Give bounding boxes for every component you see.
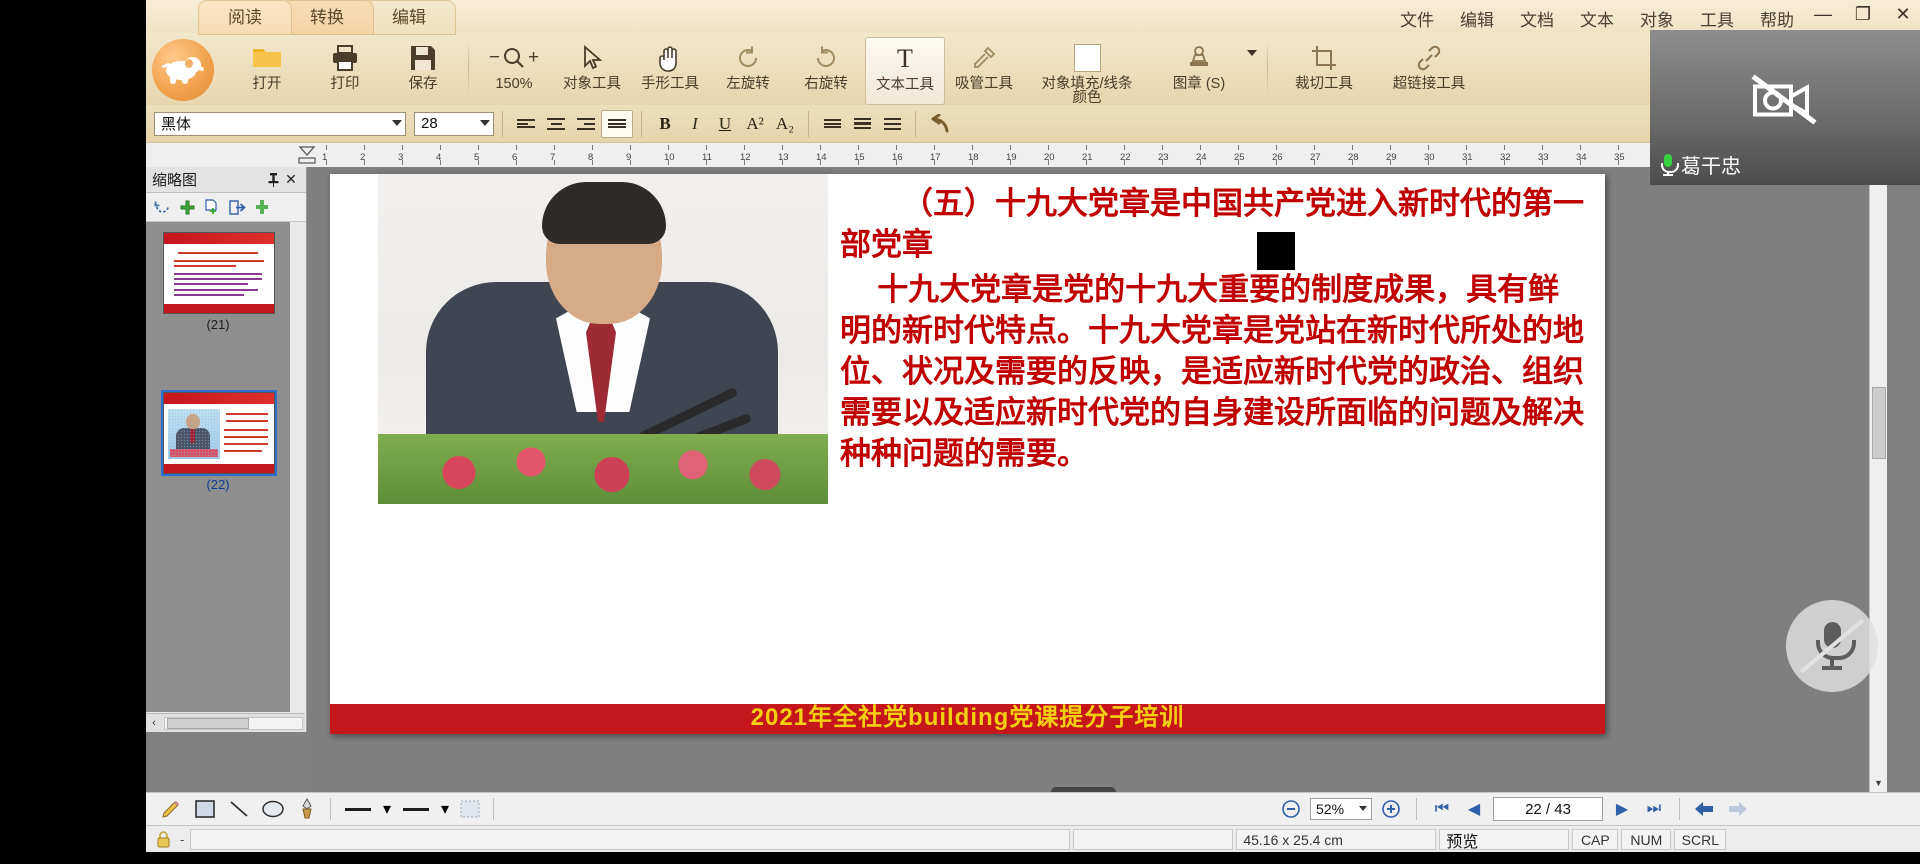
participant-name-badge: 葛干忠 bbox=[1660, 150, 1741, 179]
bold-button[interactable]: B bbox=[650, 111, 680, 137]
participant-name: 葛干忠 bbox=[1681, 150, 1741, 179]
navigation-controls: 52% ⏮ ◀ 22 / 43 ▶ ⏭ bbox=[1278, 797, 1750, 821]
stamp-dropdown-arrow[interactable] bbox=[1247, 37, 1261, 113]
thumbnail-page-21[interactable]: (21) bbox=[163, 232, 273, 332]
line-style-dropdown-2[interactable]: ▾ bbox=[437, 796, 453, 822]
align-left-button[interactable] bbox=[511, 111, 541, 137]
subscript-button[interactable]: A₂ bbox=[770, 111, 800, 137]
font-family-value: 黑体 bbox=[161, 113, 191, 134]
ruler-tick: 3 bbox=[402, 143, 440, 167]
insert-page-icon[interactable] bbox=[202, 197, 222, 217]
ruler-tick: 16 bbox=[896, 143, 934, 167]
tab-read[interactable]: 阅读 bbox=[198, 0, 292, 35]
minimize-button[interactable]: — bbox=[1812, 2, 1834, 26]
history-back-button[interactable] bbox=[1692, 797, 1718, 821]
ruler-tick: 30 bbox=[1428, 143, 1466, 167]
line-style-solid-button[interactable] bbox=[337, 796, 379, 822]
extract-icon[interactable] bbox=[252, 197, 272, 217]
eyedropper-tool-label: 吸管工具 bbox=[955, 77, 1013, 91]
pattern-fill-icon[interactable] bbox=[453, 796, 487, 822]
thumbnail-hscrollbar[interactable]: ‹ bbox=[146, 713, 305, 732]
eyedropper-icon bbox=[971, 41, 997, 75]
thumbnail-list[interactable]: (21) bbox=[146, 222, 290, 712]
prev-page-button[interactable]: ◀ bbox=[1461, 797, 1487, 821]
thumbnail-page-22[interactable]: (22) bbox=[163, 392, 273, 492]
font-family-combo[interactable]: 黑体 bbox=[154, 112, 406, 136]
ruler-tick: 11 bbox=[706, 143, 744, 167]
save-button[interactable]: 保存 bbox=[384, 37, 462, 105]
object-fill-line-color-label: 对象填充/线条 颜色 bbox=[1041, 77, 1132, 105]
menu-item-edit[interactable]: 编辑 bbox=[1458, 3, 1496, 34]
ruler-tick: 17 bbox=[934, 143, 972, 167]
open-label: 打开 bbox=[253, 77, 282, 91]
camera-off-icon bbox=[1749, 71, 1821, 132]
thumbnail-toolbar bbox=[146, 193, 306, 222]
status-field-1 bbox=[190, 829, 1070, 850]
line-style-dashed-button[interactable] bbox=[395, 796, 437, 822]
line-style-dropdown-1[interactable]: ▾ bbox=[379, 796, 395, 822]
close-icon[interactable]: ✕ bbox=[282, 171, 300, 189]
scroll-thumb[interactable] bbox=[167, 718, 249, 729]
document-paragraph[interactable]: 十九大党章是党的十九大重要的制度成果，具有鲜明的新时代特点。十九大党章是党站在新… bbox=[840, 270, 1590, 475]
rectangle-icon[interactable] bbox=[188, 796, 222, 822]
zoom-level-value: 52% bbox=[1316, 801, 1344, 817]
status-cap: CAP bbox=[1572, 829, 1618, 850]
ruler-tick: 6 bbox=[516, 143, 554, 167]
rotate-right-button[interactable]: 右旋转 bbox=[787, 37, 865, 105]
ruler-tick: 2 bbox=[364, 143, 402, 167]
zoom-level-combo[interactable]: 52% bbox=[1310, 798, 1372, 820]
menu-bar: 文件 编辑 文档 文本 对象 工具 帮助 — ❐ ✕ 阅读 转换 编辑 bbox=[146, 0, 1920, 33]
underline-button[interactable]: U bbox=[710, 111, 740, 137]
ruler-tick: 33 bbox=[1542, 143, 1580, 167]
zoom-in-button[interactable] bbox=[1378, 797, 1404, 821]
document-photo[interactable] bbox=[378, 174, 828, 504]
document-heading[interactable]: （五）十九大党章是中国共产党进入新时代的第一部党章 bbox=[840, 184, 1590, 266]
ruler-tick: 12 bbox=[744, 143, 782, 167]
page-footer-text: 2021年全社党building党课提分子培训 bbox=[330, 697, 1605, 732]
ribbon-separator bbox=[468, 39, 469, 97]
hyperlink-tool-label: 超链接工具 bbox=[1393, 77, 1466, 91]
pin-icon[interactable] bbox=[264, 171, 282, 189]
ruler-tick: 26 bbox=[1276, 143, 1314, 167]
printer-icon bbox=[330, 41, 360, 75]
status-dash: - bbox=[180, 832, 184, 847]
thumbnail-caption: (22) bbox=[163, 477, 273, 492]
ruler-tick: 15 bbox=[858, 143, 896, 167]
object-tool-label: 对象工具 bbox=[563, 77, 621, 91]
ruler-tick: 21 bbox=[1086, 143, 1124, 167]
eyedropper-tool-button[interactable]: 吸管工具 bbox=[945, 37, 1023, 105]
ruler-tick: 1 bbox=[326, 143, 364, 167]
thumbnail-panel: 缩略图 ✕ bbox=[146, 167, 307, 732]
scroll-left-button[interactable]: ‹ bbox=[146, 715, 162, 731]
status-num: NUM bbox=[1621, 829, 1671, 850]
format-separator-4 bbox=[915, 111, 916, 137]
ruler-tick: 18 bbox=[972, 143, 1010, 167]
align-right-button[interactable] bbox=[571, 111, 601, 137]
folder-icon bbox=[252, 41, 282, 75]
scroll-down-button[interactable]: ▼ bbox=[1871, 775, 1886, 790]
italic-button[interactable]: I bbox=[680, 111, 710, 137]
pen-icon[interactable] bbox=[290, 796, 324, 822]
pencil-icon[interactable] bbox=[154, 796, 188, 822]
mic-muted-icon[interactable] bbox=[1786, 600, 1878, 692]
ruler-tick: 32 bbox=[1504, 143, 1542, 167]
zoom-out-button[interactable] bbox=[1278, 797, 1304, 821]
thumbnail-page-21-preview bbox=[163, 232, 275, 314]
save-label: 保存 bbox=[409, 77, 438, 91]
cursor-arrow-icon bbox=[581, 41, 603, 75]
object-fill-line-color-button[interactable]: 对象填充/线条 颜色 bbox=[1023, 37, 1151, 105]
chevron-down-icon[interactable] bbox=[392, 120, 402, 126]
rotate-icon[interactable] bbox=[152, 197, 172, 217]
rotate-right-label: 右旋转 bbox=[804, 77, 848, 91]
thumbnail-caption: (21) bbox=[163, 317, 273, 332]
ruler-tick: 25 bbox=[1238, 143, 1276, 167]
hand-tool-label: 手形工具 bbox=[641, 77, 699, 91]
font-size-combo[interactable]: 28 bbox=[414, 112, 494, 136]
align-justify-button[interactable] bbox=[601, 110, 633, 138]
lock-icon[interactable] bbox=[150, 829, 176, 850]
document-canvas[interactable]: （五）十九大党章是中国共产党进入新时代的第一部党章 十九大党章是党的十九大重要的… bbox=[307, 167, 1887, 792]
canvas-vertical-scrollbar[interactable]: ▲ ▼ bbox=[1869, 167, 1887, 792]
window-controls: — ❐ ✕ bbox=[1812, 2, 1914, 26]
ruler-tick: 27 bbox=[1314, 143, 1352, 167]
chevron-down-icon-3[interactable] bbox=[1359, 806, 1367, 811]
undo-button[interactable] bbox=[924, 111, 954, 137]
ruler-tick: 9 bbox=[630, 143, 668, 167]
stamp-button[interactable]: 图章 (S) bbox=[1151, 37, 1247, 105]
rotate-left-label: 左旋转 bbox=[726, 77, 770, 91]
ruler-tick: 23 bbox=[1162, 143, 1200, 167]
rotate-right-icon bbox=[813, 41, 839, 75]
ruler-tick: 13 bbox=[782, 143, 820, 167]
line-icon[interactable] bbox=[222, 796, 256, 822]
menu-item-document[interactable]: 文档 bbox=[1518, 3, 1556, 34]
page-indicator[interactable]: 22 / 43 bbox=[1493, 797, 1603, 821]
hand-icon bbox=[657, 41, 683, 75]
black-redaction-box[interactable] bbox=[1257, 232, 1295, 270]
zoom-out-sign[interactable]: − bbox=[489, 47, 500, 69]
video-participant-tile[interactable]: 葛干忠 bbox=[1650, 30, 1920, 185]
first-page-button[interactable]: ⏮ bbox=[1429, 797, 1455, 821]
rotate-left-button[interactable]: 左旋转 bbox=[709, 37, 787, 105]
text-T-icon: T bbox=[897, 42, 913, 76]
export-icon[interactable] bbox=[227, 197, 247, 217]
ruler-tick: 5 bbox=[478, 143, 516, 167]
status-scrl: SCRL bbox=[1674, 829, 1726, 850]
rotate-left-icon bbox=[735, 41, 761, 75]
line-spacing-tight-button[interactable] bbox=[817, 111, 847, 137]
ruler-tick: 28 bbox=[1352, 143, 1390, 167]
status-dimensions: 45.16 x 25.4 cm bbox=[1236, 829, 1436, 850]
maximize-button[interactable]: ❐ bbox=[1852, 2, 1874, 26]
crop-icon bbox=[1311, 41, 1337, 75]
status-field-2 bbox=[1073, 829, 1233, 850]
nav-separator-1 bbox=[1416, 798, 1417, 820]
history-forward-button[interactable] bbox=[1724, 797, 1750, 821]
last-page-button[interactable]: ⏭ bbox=[1641, 797, 1667, 821]
line-spacing-wide-button[interactable] bbox=[877, 111, 907, 137]
font-size-value: 28 bbox=[421, 115, 438, 132]
thumbnail-panel-header: 缩略图 ✕ bbox=[146, 167, 306, 193]
crop-tool-label: 裁切工具 bbox=[1295, 77, 1353, 91]
status-mode[interactable]: 预览 bbox=[1439, 829, 1569, 850]
ruler-tick: 34 bbox=[1580, 143, 1618, 167]
workspace: 缩略图 ✕ bbox=[146, 167, 1920, 792]
superscript-button[interactable]: A² bbox=[740, 111, 770, 137]
open-button[interactable]: 打开 bbox=[228, 37, 306, 105]
draw-separator-1 bbox=[330, 798, 331, 820]
ribbon-separator-2 bbox=[1267, 39, 1268, 97]
vertical-scroll-thumb[interactable] bbox=[1872, 387, 1886, 459]
ruler-tick: 10 bbox=[668, 143, 706, 167]
chevron-down-icon-2[interactable] bbox=[480, 120, 490, 126]
menu-item-file[interactable]: 文件 bbox=[1398, 3, 1436, 34]
ruler-tick: 20 bbox=[1048, 143, 1086, 167]
print-label: 打印 bbox=[331, 77, 360, 91]
elephant-logo-icon[interactable] bbox=[152, 39, 214, 101]
object-tool-button[interactable]: 对象工具 bbox=[553, 37, 631, 105]
zoom-in-sign[interactable]: + bbox=[528, 47, 539, 69]
nav-separator-2 bbox=[1679, 798, 1680, 820]
scroll-track[interactable] bbox=[164, 717, 303, 730]
ruler-tick: 4 bbox=[440, 143, 478, 167]
text-tool-label: 文本工具 bbox=[876, 78, 934, 92]
stamp-icon bbox=[1186, 41, 1212, 75]
ruler-tick: 22 bbox=[1124, 143, 1162, 167]
stamp-label: 图章 (S) bbox=[1173, 77, 1225, 91]
draw-separator-2 bbox=[493, 798, 494, 820]
status-bar: - 45.16 x 25.4 cm 预览 CAP NUM SCRL bbox=[146, 825, 1920, 852]
ruler-tick: 24 bbox=[1200, 143, 1238, 167]
format-separator-1 bbox=[502, 111, 503, 137]
ruler-tick: 7 bbox=[554, 143, 592, 167]
align-center-button[interactable] bbox=[541, 111, 571, 137]
text-tool-button[interactable]: T 文本工具 bbox=[865, 37, 945, 105]
hand-tool-button[interactable]: 手形工具 bbox=[631, 37, 709, 105]
format-separator-2 bbox=[641, 111, 642, 137]
document-text-block[interactable]: （五）十九大党章是中国共产党进入新时代的第一部党章 十九大党章是党的十九大重要的… bbox=[840, 184, 1590, 475]
line-spacing-normal-button[interactable] bbox=[847, 111, 877, 137]
magnifier-icon: − + bbox=[489, 41, 539, 75]
ruler-tick: 19 bbox=[1010, 143, 1048, 167]
ellipse-icon[interactable] bbox=[256, 796, 290, 822]
crop-tool-button[interactable]: 裁切工具 bbox=[1274, 37, 1374, 105]
thumbnail-page-22-preview bbox=[163, 392, 275, 474]
close-button[interactable]: ✕ bbox=[1892, 2, 1914, 26]
zoom-control[interactable]: − + 150% bbox=[475, 37, 553, 105]
mic-on-icon bbox=[1660, 154, 1676, 176]
tab-bar: 阅读 转换 编辑 bbox=[198, 0, 444, 35]
format-separator-3 bbox=[808, 111, 809, 137]
white-swatch-icon bbox=[1074, 41, 1101, 75]
link-icon bbox=[1416, 41, 1442, 75]
application-window: 文件 编辑 文档 文本 对象 工具 帮助 — ❐ ✕ 阅读 转换 编辑 bbox=[146, 0, 1920, 852]
ruler-tick: 31 bbox=[1466, 143, 1504, 167]
print-button[interactable]: 打印 bbox=[306, 37, 384, 105]
ruler-tick: 14 bbox=[820, 143, 858, 167]
ruler-tick: 8 bbox=[592, 143, 630, 167]
add-icon[interactable] bbox=[177, 197, 197, 217]
thumbnail-panel-title: 缩略图 bbox=[152, 169, 264, 190]
save-icon bbox=[409, 41, 437, 75]
next-page-button[interactable]: ▶ bbox=[1609, 797, 1635, 821]
zoom-level-label: 150% bbox=[495, 77, 532, 91]
screen: 文件 编辑 文档 文本 对象 工具 帮助 — ❐ ✕ 阅读 转换 编辑 bbox=[0, 0, 1920, 864]
ruler-tick: 29 bbox=[1390, 143, 1428, 167]
hyperlink-tool-button[interactable]: 超链接工具 bbox=[1374, 37, 1484, 105]
document-page[interactable]: （五）十九大党章是中国共产党进入新时代的第一部党章 十九大党章是党的十九大重要的… bbox=[330, 174, 1605, 734]
ruler-origin-marker[interactable] bbox=[296, 144, 318, 166]
menu-item-text[interactable]: 文本 bbox=[1578, 3, 1616, 34]
